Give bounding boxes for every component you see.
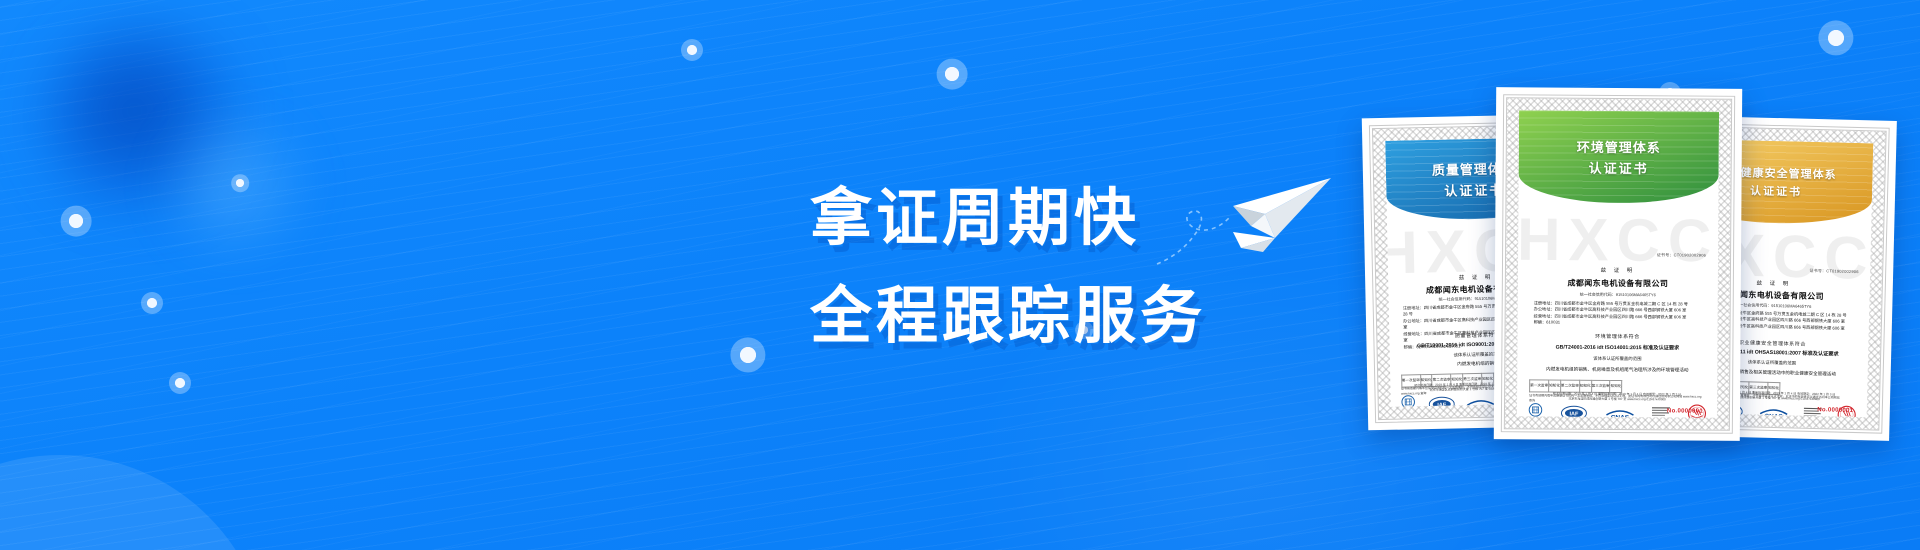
headline-line-2: 全程跟踪服务 bbox=[810, 268, 1206, 366]
certificate-scope: 内燃发电机组的销售、机房噪音及机组尾气治理所涉及的环境管理活动 bbox=[1529, 366, 1705, 374]
cnca-seal-logo bbox=[1527, 403, 1544, 418]
decor-dot bbox=[945, 67, 959, 81]
certificate-title-line-2: 认证证书 bbox=[1589, 158, 1649, 177]
svg-text:IAF: IAF bbox=[1570, 411, 1580, 417]
certificates-group: HXCC质量管理体系认证证书证书号：CT01902002906兹 证 明成都闻东… bbox=[1365, 88, 1920, 488]
decor-dot bbox=[687, 45, 697, 55]
cnas-logo: CNAS bbox=[1758, 405, 1788, 417]
certificate-system-label: 环境管理体系符合 bbox=[1517, 332, 1717, 340]
decor-dot bbox=[69, 214, 83, 228]
certificate-title-line-1: 环境管理体系 bbox=[1577, 137, 1661, 157]
certificate-addresses: 注册地址：四川省成都市金牛区金府路 555 号万贯五金机电城二期 C 区 14 … bbox=[1534, 300, 1702, 327]
certificate-card-environment[interactable]: HXCC环境管理体系认证证书证书号：CT01902002906兹 证 明成都闻东… bbox=[1494, 87, 1742, 441]
iaf-logo: IAF bbox=[1561, 404, 1587, 417]
cnas-logo: CNAS bbox=[1466, 395, 1496, 407]
certificate-title-line-2: 认证证书 bbox=[1750, 182, 1802, 199]
headline-line-1: 拿证周期快 bbox=[810, 170, 1206, 268]
svg-text:CNAS: CNAS bbox=[1472, 404, 1491, 407]
certificate-number: No.0000001 bbox=[1817, 407, 1853, 414]
decor-dot bbox=[1828, 30, 1844, 46]
certificate-inner-border: HXCC环境管理体系认证证书证书号：CT01902002906兹 证 明成都闻东… bbox=[1501, 94, 1735, 434]
certificate-footer: 初次批准日期：2019 年 1 月 4 日 重新批准日期：2019 年 1 月 … bbox=[1529, 391, 1705, 402]
certificate-standard: GB/T24001-2016 idt ISO14001:2015 标准及认证要求 bbox=[1517, 343, 1717, 351]
decor-dot bbox=[236, 179, 244, 187]
svg-text:CNAS: CNAS bbox=[1764, 413, 1783, 417]
decor-dot bbox=[740, 347, 756, 363]
certificate-certify-label: 兹 证 明 bbox=[1518, 265, 1718, 274]
cnas-logo: CNAS bbox=[1604, 406, 1634, 418]
decor-dot bbox=[175, 378, 185, 388]
paper-plane-icon bbox=[1155, 160, 1335, 270]
svg-text:CNAS: CNAS bbox=[1610, 414, 1629, 418]
certificate-serial: 证书号：CT01902002906 bbox=[1809, 268, 1858, 275]
iaf-logo: IAF bbox=[1428, 395, 1454, 407]
certificate-scope-label: 该体系认证所覆盖的范围 bbox=[1517, 355, 1717, 362]
cnca-seal-logo bbox=[1399, 394, 1417, 407]
certificate-company-name: 成都闻东电机设备有限公司 bbox=[1518, 277, 1718, 289]
certificate-header-band: 环境管理体系认证证书 bbox=[1518, 110, 1719, 203]
promo-banner: 拿证周期快 全程跟踪服务 HXCC质量管理体系认证证书证书号：CT0190200… bbox=[0, 0, 1920, 550]
certificate-credit-code: 统一社会信用代码：91510106MA6465TY6 bbox=[1518, 291, 1718, 298]
certificate-serial: 证书号：CT01902002906 bbox=[1657, 252, 1706, 258]
certificate-field: HXCC环境管理体系认证证书证书号：CT01902002906兹 证 明成都闻东… bbox=[1517, 110, 1719, 417]
page-title: 拿证周期快 全程跟踪服务 bbox=[810, 170, 1206, 366]
svg-text:IAF: IAF bbox=[1437, 402, 1447, 407]
decor-dot bbox=[147, 298, 157, 308]
certificate-number: No.0000001 bbox=[1667, 408, 1703, 414]
